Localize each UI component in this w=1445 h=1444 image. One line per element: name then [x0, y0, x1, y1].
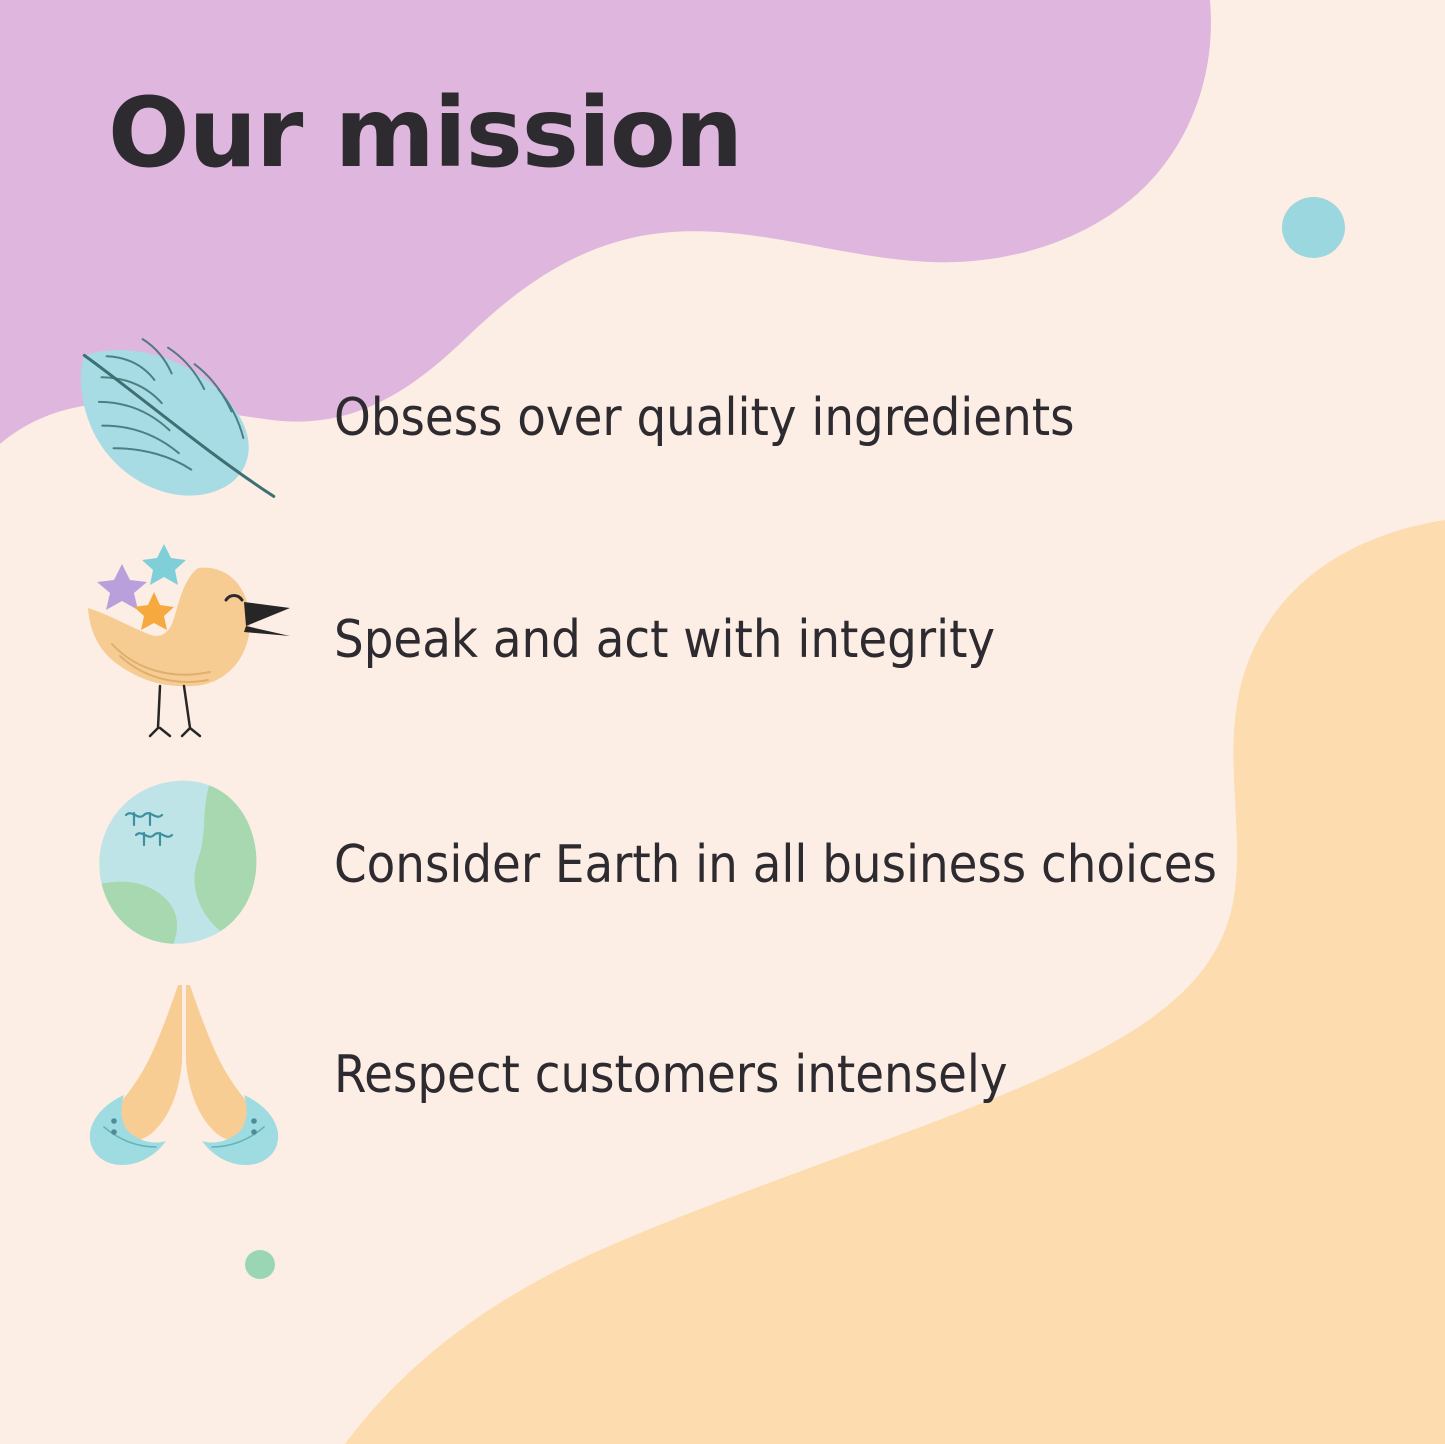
list-item-label: Consider Earth in all business choices	[334, 835, 1217, 895]
list-item: Consider Earth in all business choices	[80, 765, 1400, 965]
leaf-icon	[80, 318, 290, 518]
bird-beak-lower	[244, 626, 290, 636]
praying-hands-icon	[80, 975, 290, 1175]
earth-icon	[80, 765, 290, 965]
right-hand	[186, 985, 256, 1141]
list-item-label: Speak and act with integrity	[334, 610, 995, 670]
mission-poster: Our mission	[0, 0, 1445, 1444]
list-item-label: Obsess over quality ingredients	[334, 388, 1074, 448]
star-orange	[134, 592, 174, 630]
star-teal	[142, 544, 186, 585]
list-item: Respect customers intensely	[80, 975, 1400, 1175]
bird-legs	[150, 686, 200, 736]
bird-icon	[80, 540, 290, 740]
list-item-label: Respect customers intensely	[334, 1045, 1008, 1105]
list-item: Obsess over quality ingredients	[80, 318, 1400, 518]
mission-list: Obsess over quality ingredients	[0, 0, 1445, 1444]
left-hand	[113, 985, 183, 1141]
star-purple	[97, 564, 147, 610]
bird-beak	[244, 602, 290, 626]
list-item: Speak and act with integrity	[80, 540, 1400, 740]
